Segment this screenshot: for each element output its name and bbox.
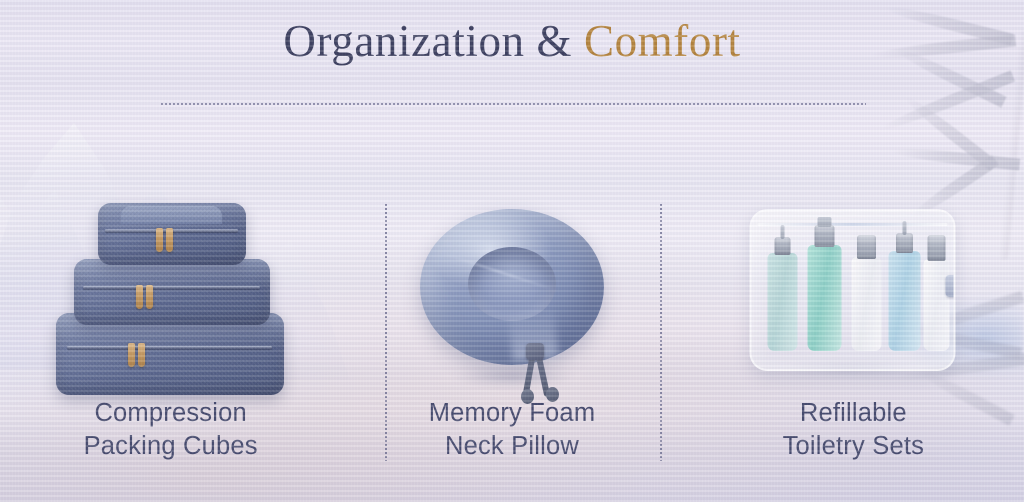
bottle-nozzle [903, 221, 907, 235]
travel-bottle-lotion [852, 257, 882, 351]
product-caption-neck-pillow: Memory Foam Neck Pillow [429, 397, 596, 463]
travel-bottle-pump [808, 245, 842, 351]
slide-title: Organization & Comfort [0, 18, 1024, 65]
bag-zipper-track [758, 223, 948, 226]
packing-cubes-icon [56, 201, 286, 391]
zipper-pull-icon [146, 285, 153, 309]
palm-frond [892, 145, 1021, 170]
title-primary-text: Organization & [283, 16, 572, 66]
product-columns: Compression Packing Cubes [0, 195, 1024, 480]
bottle-body [852, 257, 882, 351]
travel-bottle-cream [924, 259, 950, 351]
zipper-pull-icon [136, 285, 143, 309]
caption-line: Memory Foam [429, 397, 596, 430]
product-column-neck-pillow: Memory Foam Neck Pillow [341, 195, 682, 480]
bottle-body [924, 259, 950, 351]
title-divider-dotted [160, 103, 866, 105]
bag-zipper-pull [946, 275, 956, 297]
zipper-pull-icon [138, 343, 145, 367]
pillow-drop-shadow [430, 367, 596, 387]
clear-toiletry-bag [750, 209, 956, 371]
bottle-nozzle [781, 225, 785, 239]
neck-pillow-icon [412, 203, 612, 393]
neck-pillow-figure [341, 195, 682, 395]
travel-bottle-mist [889, 251, 921, 351]
caption-line: Compression [84, 397, 258, 430]
zipper-pull-icon [128, 343, 135, 367]
caption-line: Packing Cubes [84, 430, 258, 463]
caption-line: Refillable [783, 397, 924, 430]
cube-lid [98, 203, 246, 229]
bottle-body [768, 253, 798, 351]
drawstring-tip [521, 389, 534, 404]
bottle-pump-head [818, 217, 832, 227]
packing-cubes-figure [0, 195, 341, 395]
bottle-body [889, 251, 921, 351]
product-column-packing-cubes: Compression Packing Cubes [0, 195, 341, 480]
bottle-cap [928, 235, 946, 261]
product-caption-packing-cubes: Compression Packing Cubes [84, 397, 258, 463]
cube-zipper-track [83, 286, 259, 289]
packing-cube-large [56, 313, 284, 395]
bottle-cap [815, 225, 835, 247]
toiletry-set-figure [683, 195, 1024, 395]
zipper-pull-icon [156, 228, 163, 252]
bottle-cap [896, 233, 913, 253]
toiletry-bag-icon [746, 203, 961, 393]
travel-bottle-spray [768, 253, 798, 351]
bottle-cap [775, 237, 791, 255]
bottle-body [808, 245, 842, 351]
cube-mesh-panel [121, 206, 222, 224]
cube-zipper-track [67, 346, 272, 349]
drawstring-toggle [526, 343, 544, 360]
product-caption-toiletry-sets: Refillable Toiletry Sets [783, 397, 924, 463]
zipper-pull-icon [166, 228, 173, 252]
caption-line: Neck Pillow [429, 430, 596, 463]
bottle-cap [857, 235, 876, 259]
drawstring-tip [546, 387, 559, 402]
title-accent-text: Comfort [584, 16, 741, 66]
slide-canvas: Organization & Comfort [0, 0, 1024, 502]
packing-cube-medium [74, 259, 270, 325]
caption-line: Toiletry Sets [783, 430, 924, 463]
product-column-toiletry-sets: Refillable Toiletry Sets [683, 195, 1024, 480]
